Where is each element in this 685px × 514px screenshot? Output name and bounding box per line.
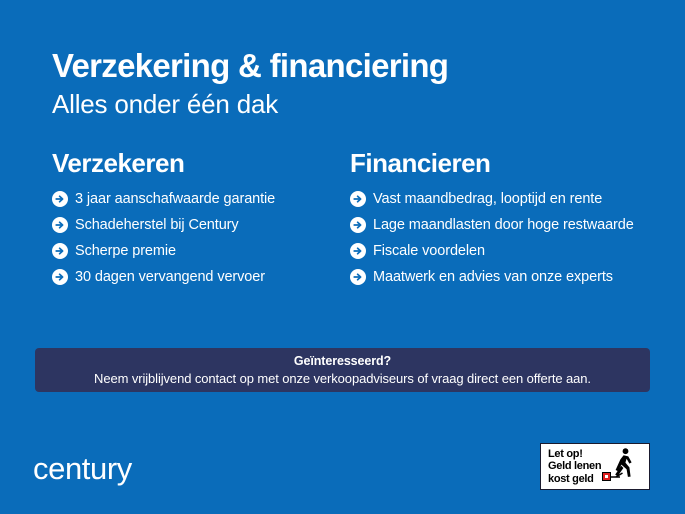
list-item-label: 3 jaar aanschafwaarde garantie — [75, 190, 275, 208]
arrow-circle-right-icon — [52, 243, 68, 259]
list-item-label: 30 dagen vervangend vervoer — [75, 268, 265, 286]
slide-root: Verzekering & financiering Alles onder é… — [0, 0, 685, 514]
list-item: 30 dagen vervangend vervoer — [52, 268, 350, 286]
list-item: Fiscale voordelen — [350, 242, 648, 260]
list-item: 3 jaar aanschafwaarde garantie — [52, 190, 350, 208]
feature-columns: Verzekeren 3 jaar aanschafwaarde garanti… — [52, 148, 652, 294]
afm-warning-badge: Let op! Geld lenen kost geld — [540, 443, 650, 490]
page-subtitle: Alles onder één dak — [52, 88, 652, 120]
arrow-circle-right-icon — [350, 243, 366, 259]
arrow-circle-right-icon — [52, 269, 68, 285]
bullet-list-financieren: Vast maandbedrag, looptijd en rente Lage… — [350, 190, 648, 286]
list-item-label: Schadeherstel bij Century — [75, 216, 239, 234]
column-heading-verzekeren: Verzekeren — [52, 148, 350, 179]
arrow-circle-right-icon — [52, 217, 68, 233]
bullet-list-verzekeren: 3 jaar aanschafwaarde garantie Schadeher… — [52, 190, 350, 286]
callout-box: Geïnteresseerd? Neem vrijblijvend contac… — [35, 348, 650, 392]
list-item: Schadeherstel bij Century — [52, 216, 350, 234]
column-heading-financieren: Financieren — [350, 148, 648, 179]
warning-line-2: Geld lenen — [548, 460, 601, 473]
warning-line-1: Let op! — [548, 448, 601, 461]
list-item-label: Maatwerk en advies van onze experts — [373, 268, 613, 286]
list-item: Lage maandlasten door hoge restwaarde — [350, 216, 648, 234]
arrow-circle-right-icon — [350, 269, 366, 285]
page-title: Verzekering & financiering — [52, 46, 652, 86]
arrow-circle-right-icon — [52, 191, 68, 207]
list-item-label: Vast maandbedrag, looptijd en rente — [373, 190, 602, 208]
arrow-circle-right-icon — [350, 217, 366, 233]
list-item-label: Scherpe premie — [75, 242, 176, 260]
callout-text: Neem vrijblijvend contact op met onze ve… — [94, 370, 591, 388]
column-verzekeren: Verzekeren 3 jaar aanschafwaarde garanti… — [52, 148, 350, 294]
list-item: Vast maandbedrag, looptijd en rente — [350, 190, 648, 208]
warning-text-block: Let op! Geld lenen kost geld — [548, 448, 601, 486]
arrow-circle-right-icon — [350, 191, 366, 207]
header: Verzekering & financiering Alles onder é… — [52, 46, 652, 120]
list-item: Scherpe premie — [52, 242, 350, 260]
century-logo: century — [33, 450, 132, 488]
list-item: Maatwerk en advies van onze experts — [350, 268, 648, 286]
callout-title: Geïnteresseerd? — [294, 353, 391, 370]
column-financieren: Financieren Vast maandbedrag, looptijd e… — [350, 148, 648, 294]
walking-person-dragging-block-icon — [602, 444, 636, 489]
list-item-label: Fiscale voordelen — [373, 242, 485, 260]
warning-line-3: kost geld — [548, 473, 601, 486]
list-item-label: Lage maandlasten door hoge restwaarde — [373, 216, 634, 234]
